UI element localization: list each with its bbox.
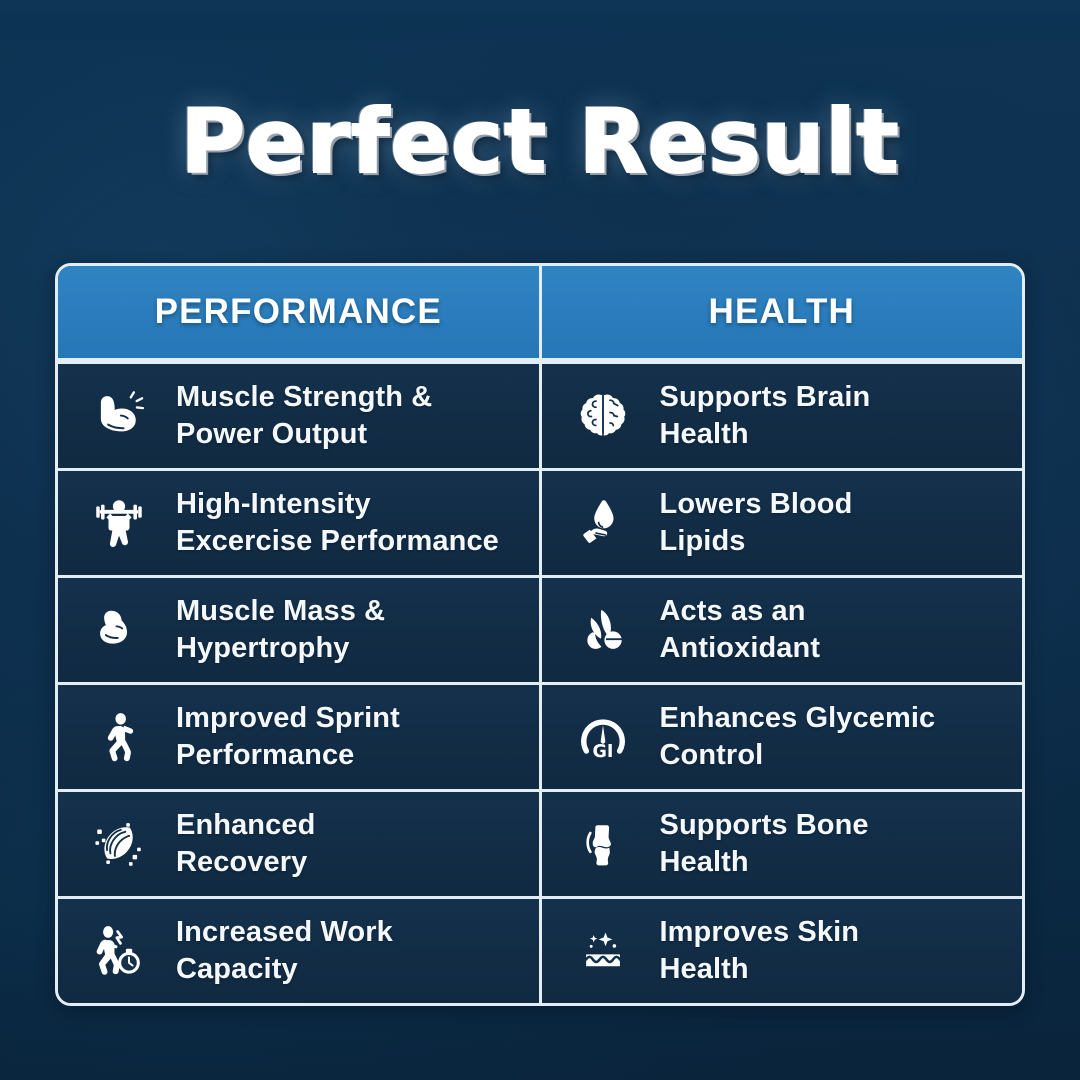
- column-header-health: HEALTH: [539, 266, 1023, 358]
- cell-health-1: Supports BrainHealth: [539, 364, 1023, 468]
- blood-drop-hand-icon: [564, 486, 642, 560]
- cell-label: Supports BrainHealth: [660, 379, 1009, 452]
- poster-canvas: Perfect Result PERFORMANCE HEALTH Muscle…: [0, 0, 1080, 1080]
- svg-text:GI: GI: [592, 742, 613, 762]
- cell-label: Lowers BloodLipids: [660, 486, 1009, 559]
- cell-performance-1: Muscle Strength &Power Output: [58, 364, 539, 468]
- cell-label: Muscle Mass &Hypertrophy: [176, 593, 525, 666]
- cell-health-4: GI Enhances GlycemicControl: [539, 685, 1023, 789]
- leaf-capsule-icon: [564, 593, 642, 667]
- cell-label: Improved SprintPerformance: [176, 700, 525, 773]
- bone-joint-icon: [564, 807, 642, 881]
- cell-label: Acts as anAntioxidant: [660, 593, 1009, 666]
- table-row: High-IntensityExcercise Performance Lowe…: [58, 468, 1022, 575]
- cell-performance-3: Muscle Mass &Hypertrophy: [58, 578, 539, 682]
- table-row: Increased WorkCapacity Improves SkinHeal…: [58, 896, 1022, 1003]
- table-row: Muscle Strength &Power Output: [58, 361, 1022, 468]
- cell-health-3: Acts as anAntioxidant: [539, 578, 1023, 682]
- flexed-bicep-icon: [80, 379, 158, 453]
- top-band: [0, 0, 1080, 17]
- cell-label: Supports BoneHealth: [660, 807, 1009, 880]
- column-header-performance: PERFORMANCE: [58, 266, 539, 358]
- gi-gauge-icon: GI: [564, 700, 642, 774]
- cell-performance-6: Increased WorkCapacity: [58, 899, 539, 1003]
- benefits-table: PERFORMANCE HEALTH Muscle Strength &Powe…: [55, 263, 1025, 1006]
- cell-performance-5: EnhancedRecovery: [58, 792, 539, 896]
- table-row: Muscle Mass &Hypertrophy Acts as anAntio…: [58, 575, 1022, 682]
- cell-label: Increased WorkCapacity: [176, 914, 525, 987]
- cell-health-5: Supports BoneHealth: [539, 792, 1023, 896]
- runner-stopwatch-icon: [80, 914, 158, 988]
- table-header-row: PERFORMANCE HEALTH: [58, 266, 1022, 361]
- skin-sparkle-icon: [564, 914, 642, 988]
- cell-label: Enhances GlycemicControl: [660, 700, 1009, 773]
- muscle-fiber-repair-icon: [80, 807, 158, 881]
- page-title: Perfect Result: [180, 96, 899, 188]
- brain-icon: [564, 379, 642, 453]
- table-row: Improved SprintPerformance GI Enhances G…: [58, 682, 1022, 789]
- bicep-muscle-icon: [80, 593, 158, 667]
- cell-performance-2: High-IntensityExcercise Performance: [58, 471, 539, 575]
- running-person-icon: [80, 700, 158, 774]
- cell-label: Improves SkinHealth: [660, 914, 1009, 987]
- title-area: Perfect Result: [0, 96, 1080, 188]
- cell-label: EnhancedRecovery: [176, 807, 525, 880]
- table-row: EnhancedRecovery Supports BoneHealth: [58, 789, 1022, 896]
- cell-health-2: Lowers BloodLipids: [539, 471, 1023, 575]
- weightlifter-squat-icon: [80, 486, 158, 560]
- cell-performance-4: Improved SprintPerformance: [58, 685, 539, 789]
- cell-label: Muscle Strength &Power Output: [176, 379, 525, 452]
- cell-health-6: Improves SkinHealth: [539, 899, 1023, 1003]
- cell-label: High-IntensityExcercise Performance: [176, 486, 525, 559]
